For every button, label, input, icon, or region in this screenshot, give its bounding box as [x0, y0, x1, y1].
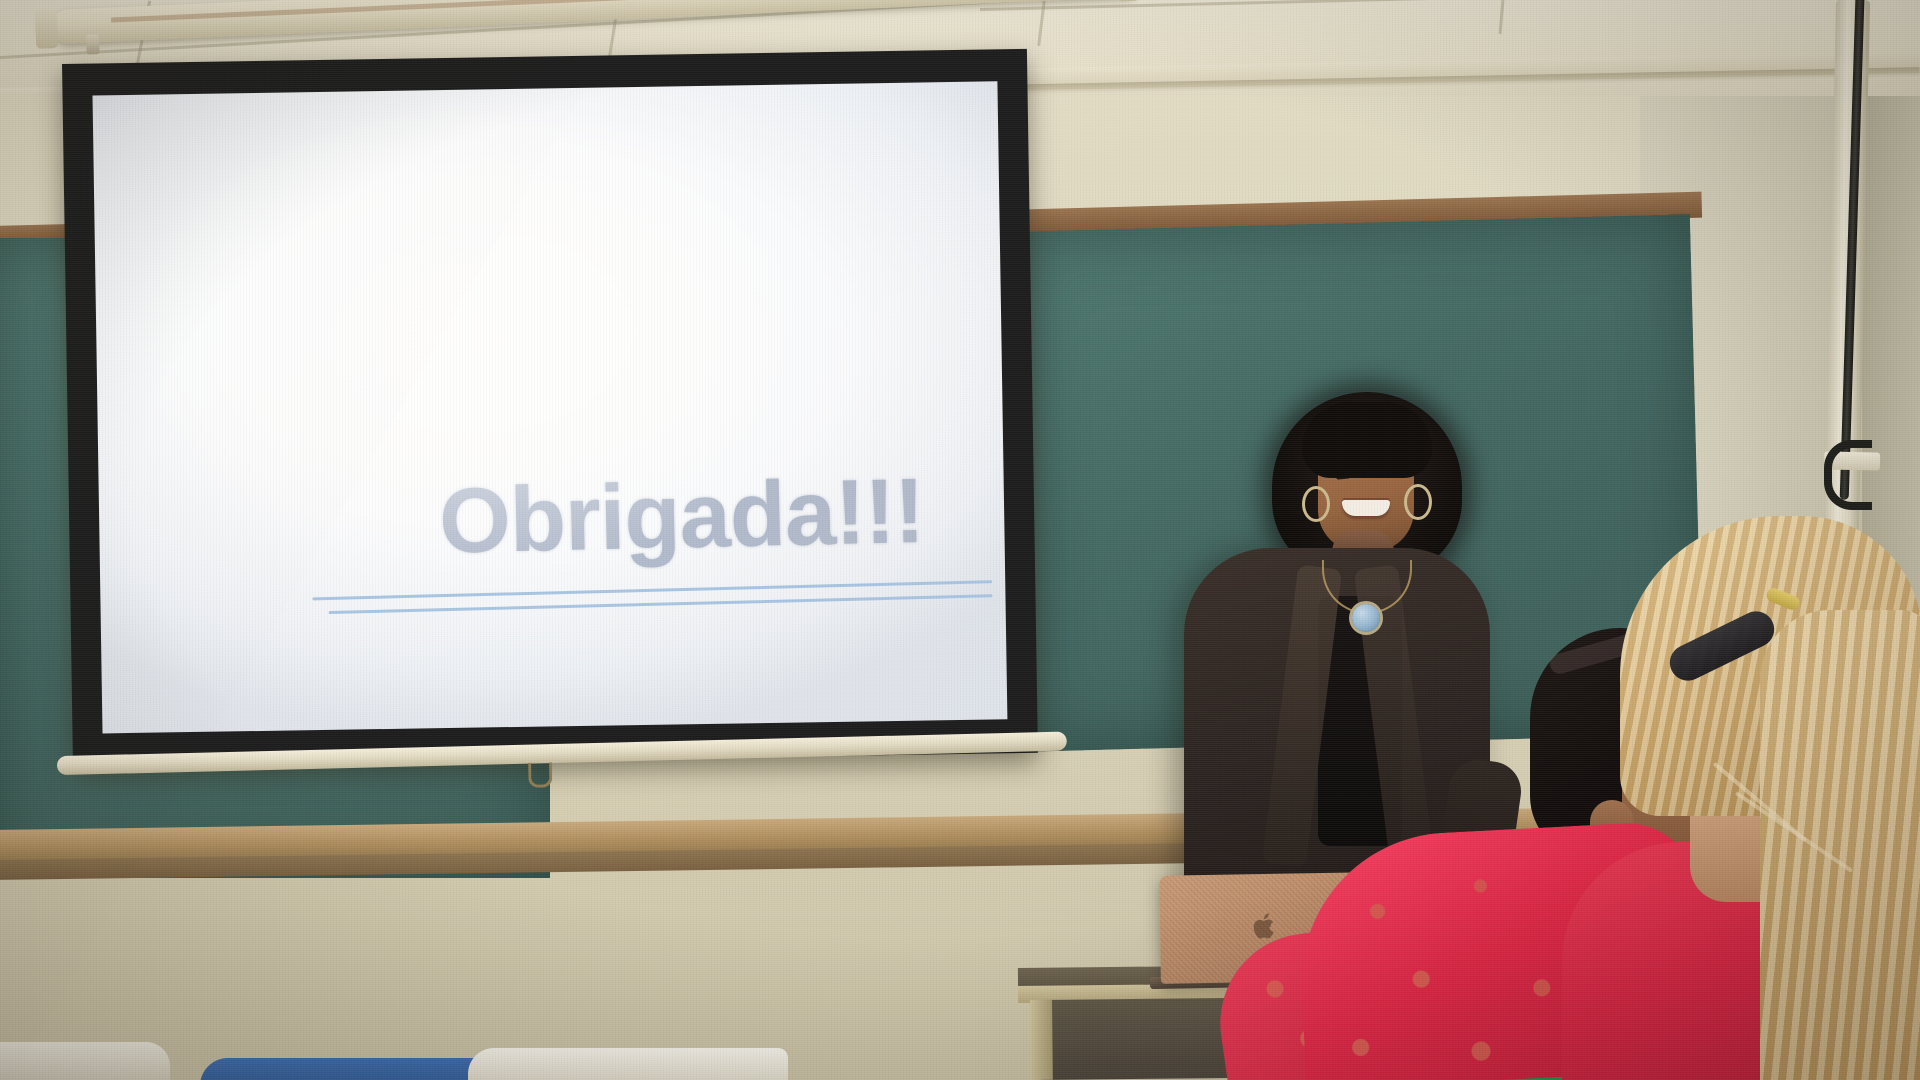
ceiling-grid-line [980, 0, 1920, 11]
screen-black-border: Obrigada!!! [62, 49, 1038, 768]
apple-logo-icon [1252, 911, 1279, 941]
presenter-bangs [1302, 402, 1432, 478]
presenter-pendant [1352, 604, 1380, 632]
audience-blonde-ponytail [1760, 610, 1920, 1080]
slide-title-text: Obrigada!!! [438, 459, 925, 575]
classroom-photo: Obrigada!!! [0, 0, 1920, 1080]
housing-endcap-left [35, 6, 59, 49]
presenter-earring-right [1404, 484, 1432, 520]
screen-projection-surface[interactable]: Obrigada!!! [92, 81, 1007, 733]
teacher-desk-leg [1030, 1000, 1053, 1080]
presenter-earring-left [1302, 486, 1330, 522]
student-desk-left [0, 1042, 170, 1080]
projector-screen[interactable]: Obrigada!!! [62, 49, 1039, 834]
presenter-smile [1342, 500, 1390, 516]
cable-loop [1824, 440, 1872, 510]
ceiling-grid-line [1499, 0, 1505, 34]
screen-pull-hook-icon[interactable] [528, 762, 552, 787]
student-desk-right [468, 1048, 788, 1080]
housing-bracket-left [86, 34, 100, 55]
